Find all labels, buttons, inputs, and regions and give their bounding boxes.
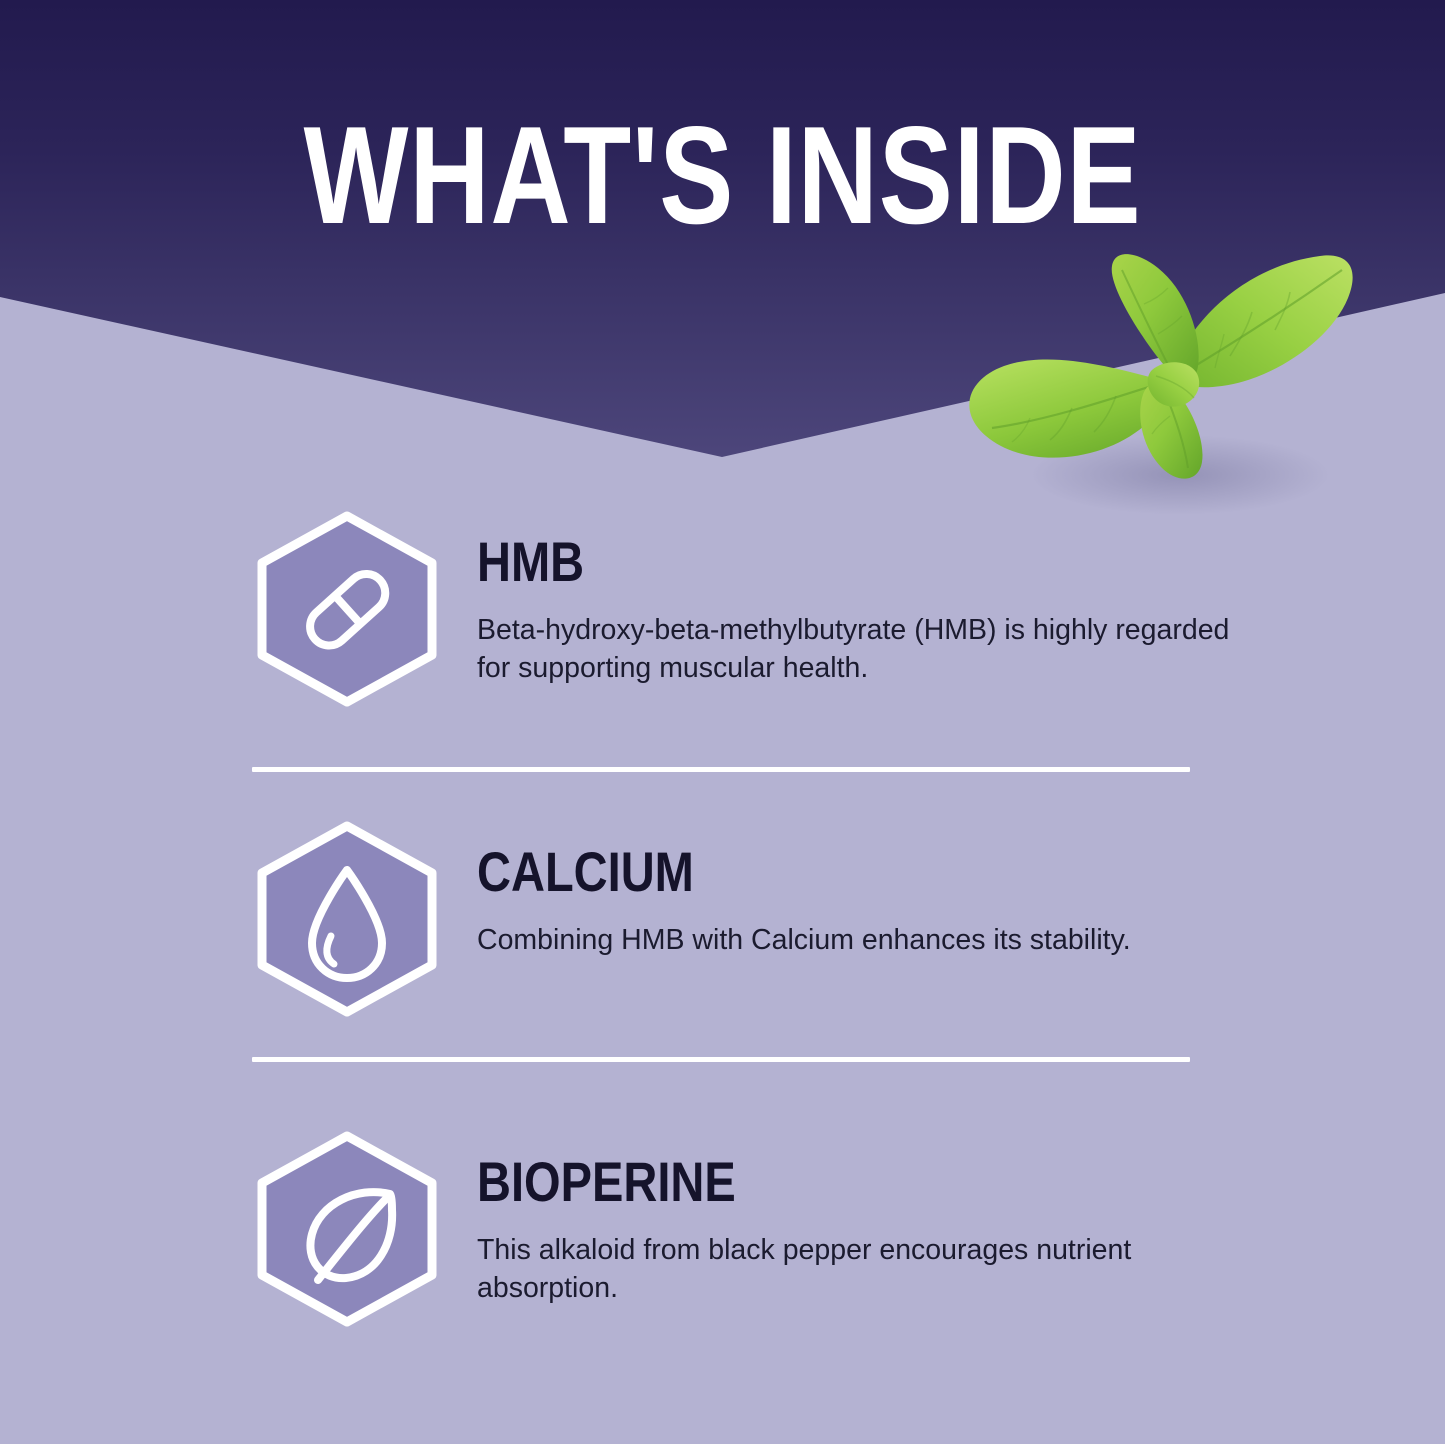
ingredient-description: This alkaloid from black pepper encourag… xyxy=(477,1232,1237,1308)
ingredient-description: Beta-hydroxy-beta-methylbutyrate (HMB) i… xyxy=(477,612,1237,688)
section-divider xyxy=(252,1057,1190,1062)
list-item: HMB Beta-hydroxy-beta-methylbutyrate (HM… xyxy=(252,508,1252,710)
list-item: BIOPERINE This alkaloid from black peppe… xyxy=(252,1128,1252,1330)
hexagon-badge xyxy=(252,1128,442,1330)
pill-capsule-icon xyxy=(252,508,442,710)
list-item-text: BIOPERINE This alkaloid from black peppe… xyxy=(442,1128,1252,1308)
whats-inside-poster: WHAT'S INSIDE xyxy=(0,0,1445,1444)
ingredient-list: HMB Beta-hydroxy-beta-methylbutyrate (HM… xyxy=(0,0,1445,1444)
hexagon-badge xyxy=(252,818,442,1020)
list-item: CALCIUM Combining HMB with Calcium enhan… xyxy=(252,818,1252,1020)
list-item-text: CALCIUM Combining HMB with Calcium enhan… xyxy=(442,818,1252,960)
ingredient-title: CALCIUM xyxy=(477,844,1128,900)
list-item-text: HMB Beta-hydroxy-beta-methylbutyrate (HM… xyxy=(442,508,1252,688)
section-divider xyxy=(252,767,1190,772)
ingredient-description: Combining HMB with Calcium enhances its … xyxy=(477,922,1237,960)
water-droplet-icon xyxy=(252,818,442,1020)
ingredient-title: HMB xyxy=(477,534,1128,590)
leaf-icon xyxy=(252,1128,442,1330)
hexagon-badge xyxy=(252,508,442,710)
ingredient-title: BIOPERINE xyxy=(477,1154,1128,1210)
